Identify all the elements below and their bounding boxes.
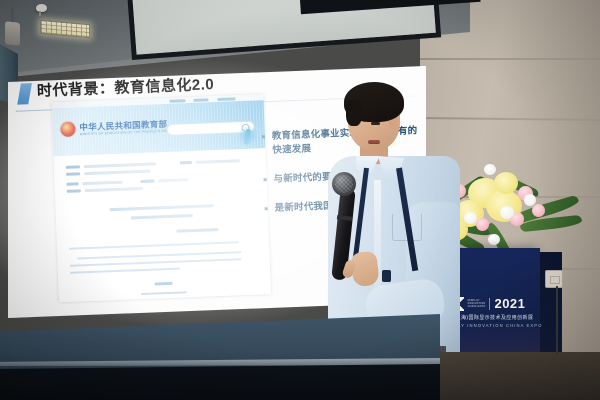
- wall-seam: [420, 58, 600, 60]
- projector-mount: [11, 7, 14, 23]
- header-illustration: [239, 127, 258, 150]
- eye: [371, 122, 380, 125]
- mouth: [368, 140, 380, 144]
- security-camera-icon: [36, 4, 47, 12]
- projector-icon: [5, 21, 20, 46]
- presenter-hair: [344, 82, 404, 122]
- power-cable: [556, 286, 558, 354]
- brand-divider: [489, 298, 490, 310]
- wall-outlet-icon: [545, 270, 563, 288]
- website-screenshot: 中华人民共和国教育部 MINISTRY OF EDUCATION OF THE …: [51, 94, 271, 302]
- nose: [367, 128, 373, 136]
- microphone-icon: [332, 172, 356, 196]
- stage-front-face: [0, 364, 440, 400]
- title-accent-bar: [17, 83, 32, 105]
- presenter-hand: [350, 251, 379, 288]
- floor: [420, 352, 600, 400]
- website-document-body: [54, 148, 271, 302]
- photo-scene: 时代背景：教育信息化2.0 中华人民共和国教育部 MINISTRY OF EDU…: [0, 0, 600, 400]
- website-header: 中华人民共和国教育部 MINISTRY OF EDUCATION OF THE …: [52, 100, 266, 156]
- expo-year: 2021: [494, 296, 525, 311]
- logo-sub-line: CHINA EXPO: [468, 305, 486, 308]
- upper-projection-screen: [127, 0, 441, 60]
- lanyard-clip: [382, 270, 391, 282]
